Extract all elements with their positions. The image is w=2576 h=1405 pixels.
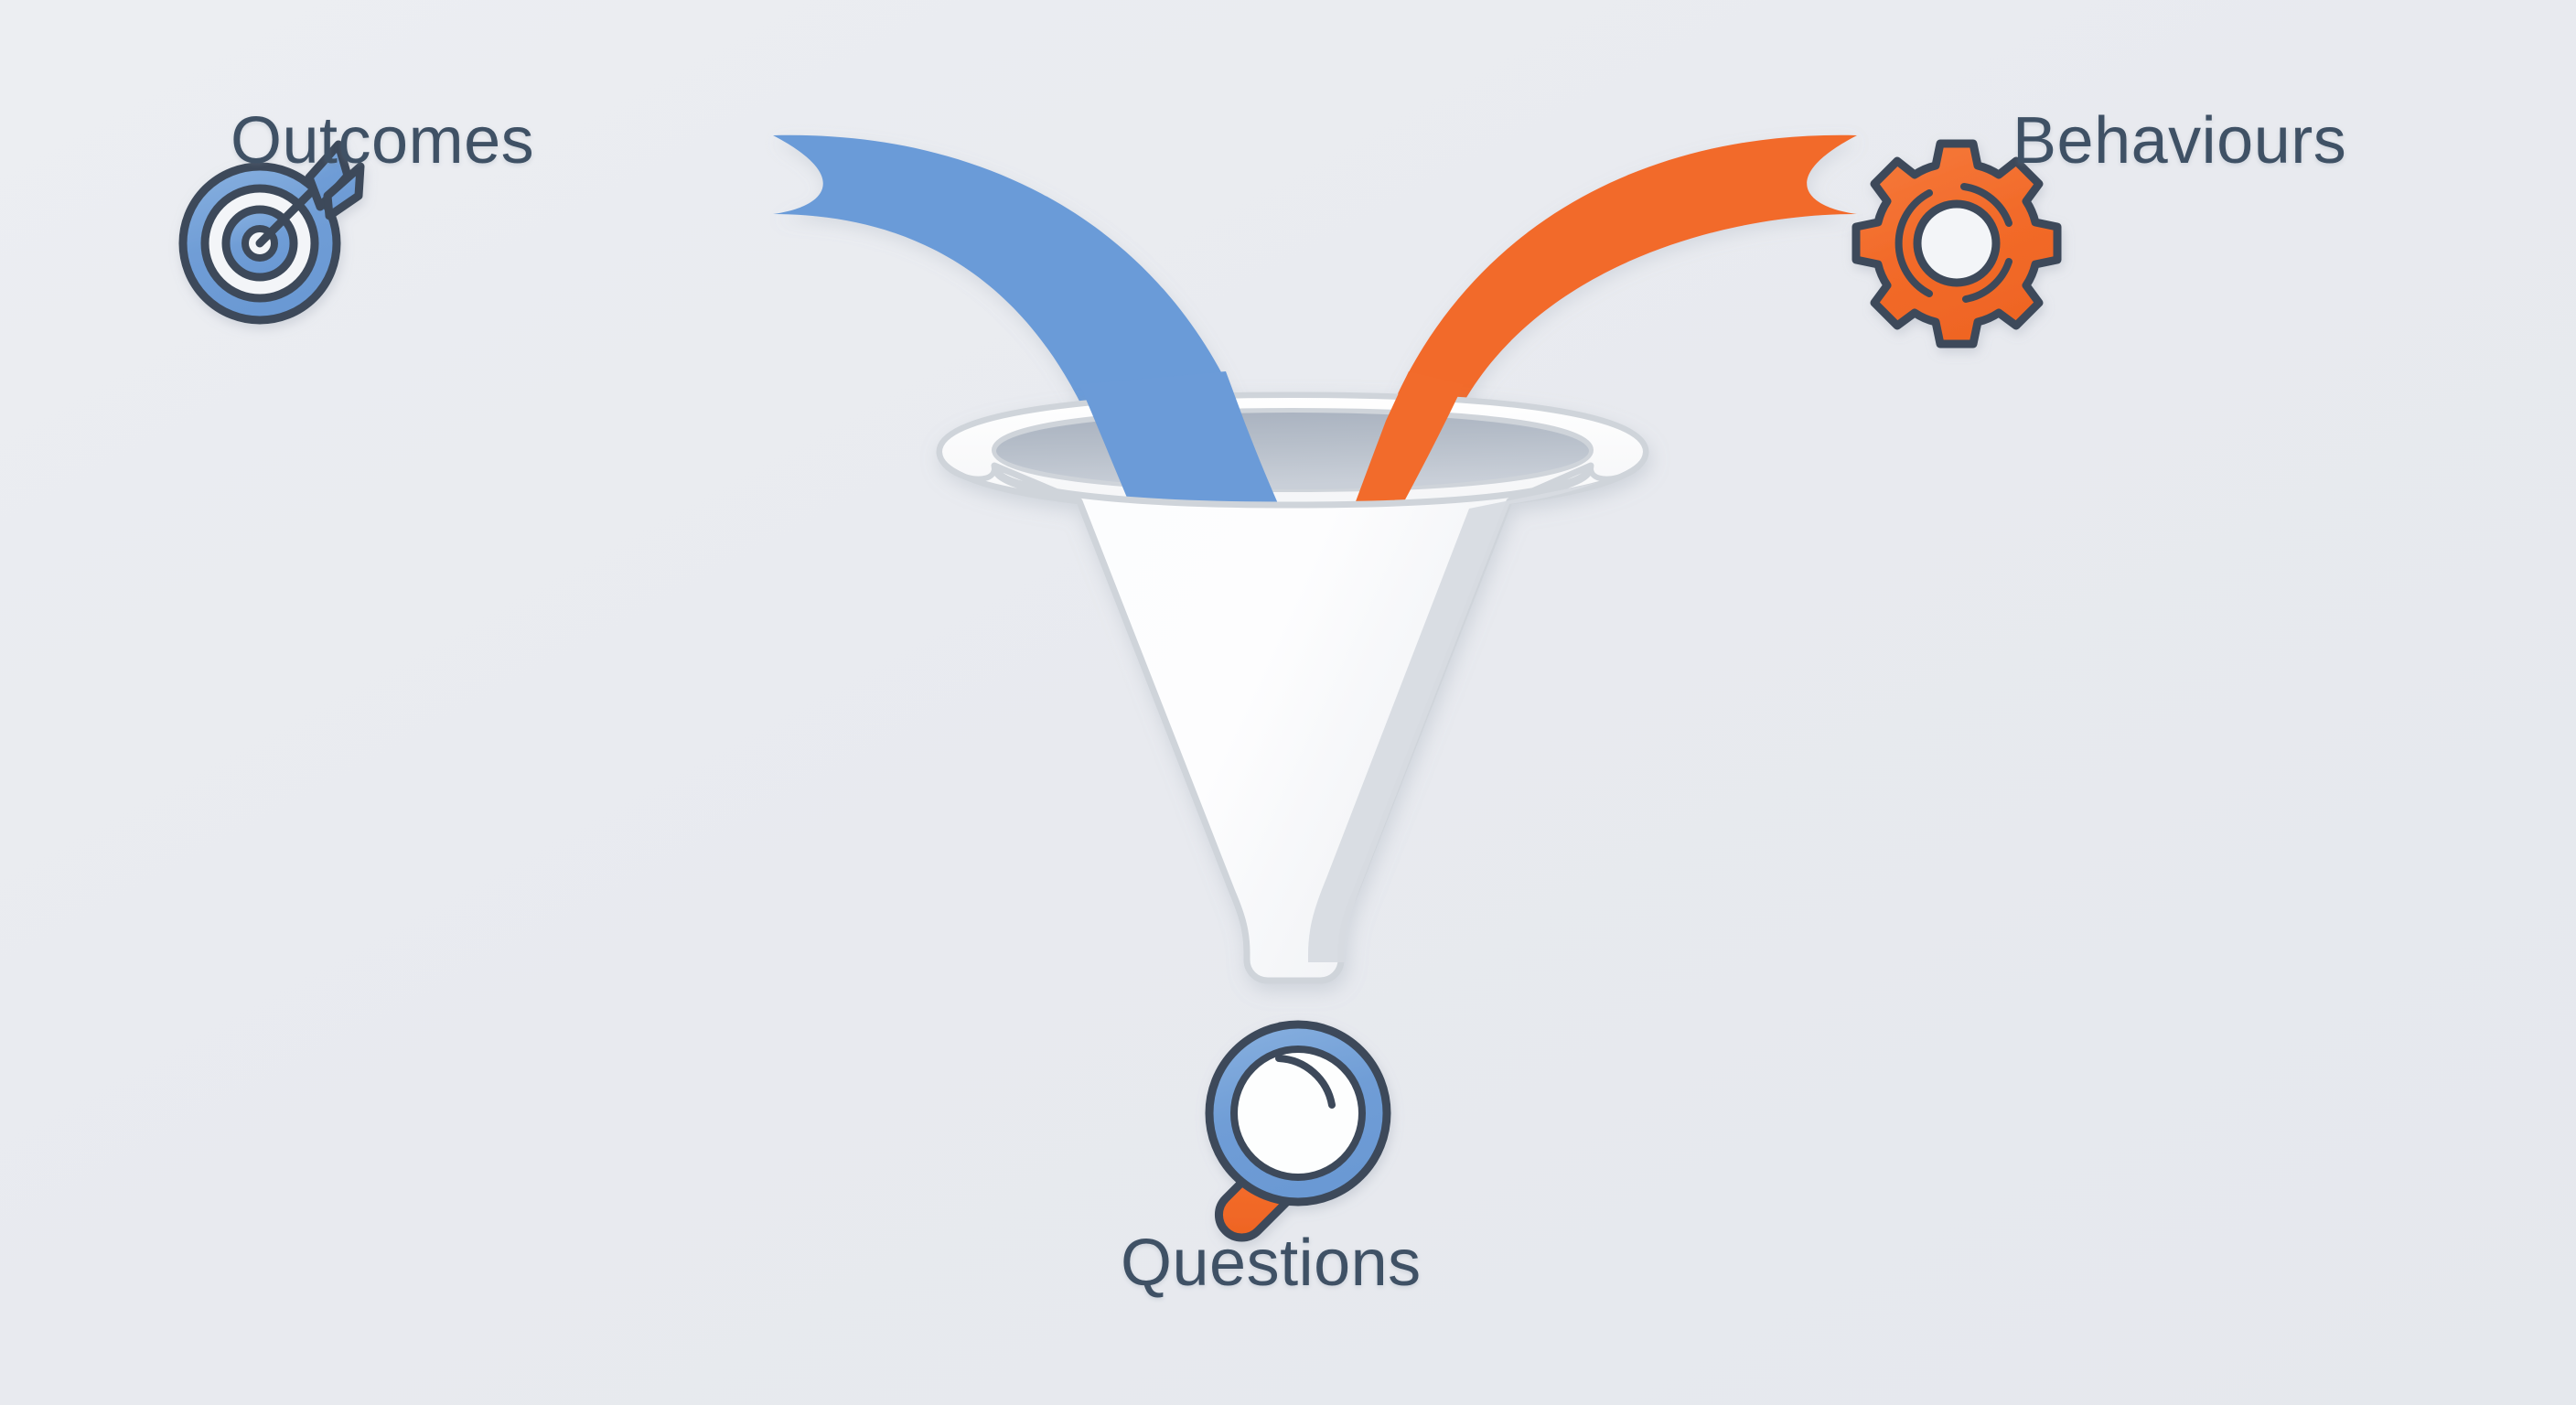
label-behaviours: Behaviours xyxy=(2012,108,2346,174)
label-questions: Questions xyxy=(1121,1230,1422,1296)
figure-canvas: Outcomes Behaviours Questions xyxy=(0,0,2576,1405)
funnel-diagram xyxy=(0,0,2576,1405)
label-outcomes: Outcomes xyxy=(231,108,534,174)
